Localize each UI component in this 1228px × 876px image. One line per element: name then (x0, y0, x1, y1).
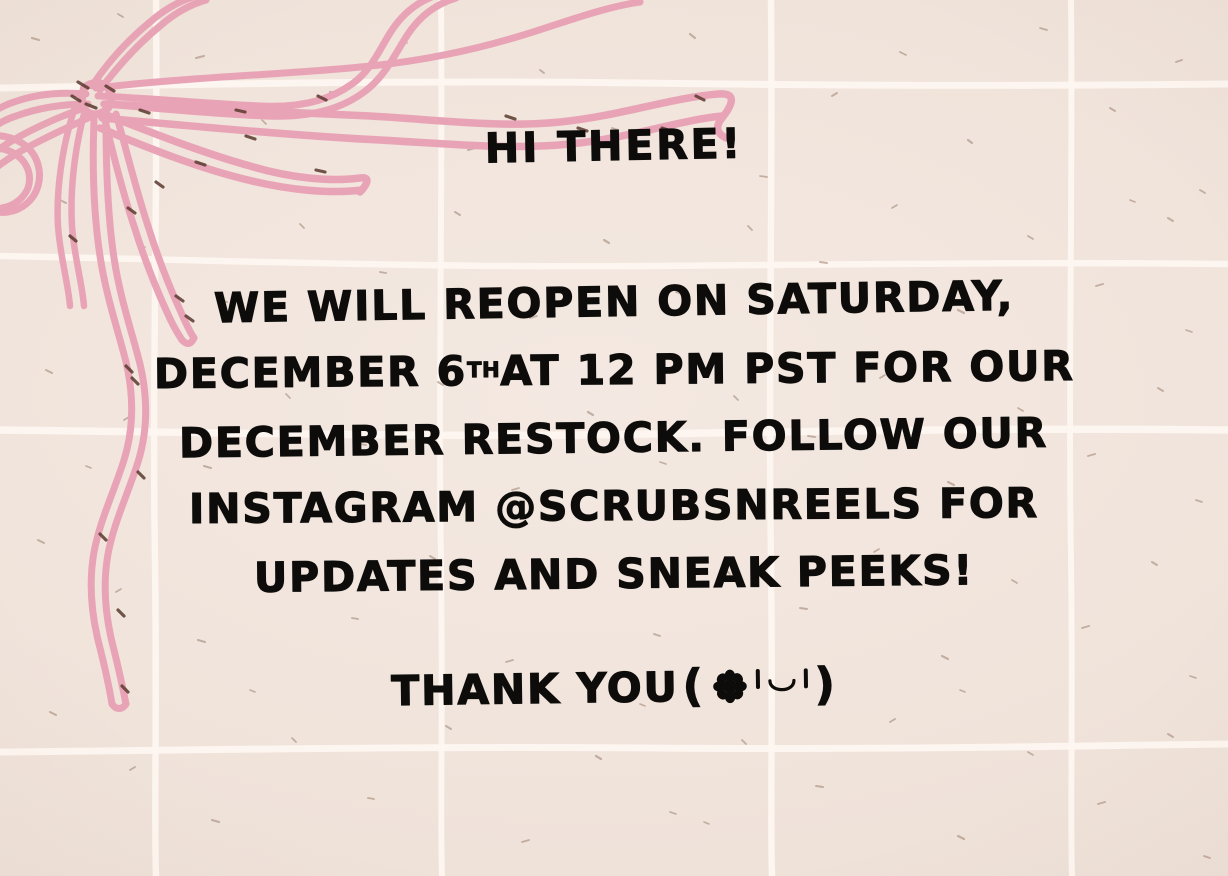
body-line-4: INSTAGRAM @SCRUBSNREELS FOR (189, 469, 1039, 543)
body-line-2-time: AT 12 PM PST FOR OUR (500, 345, 1075, 391)
body-line-5: UPDATES AND SNEAK PEEKS! (254, 536, 975, 612)
kaomoji: ( (682, 663, 837, 709)
flower-icon (712, 669, 746, 703)
greeting-heading: HI THERE! (0, 114, 1228, 179)
body-line-3: DECEMBER RESTOCK. FOLLOW OUR (179, 399, 1049, 478)
announcement-card: HI THERE! WE WILL REOPEN ON SATURDAY, DE… (0, 0, 1228, 876)
body-line-2-date: DECEMBER 6 (154, 351, 467, 395)
body-line-2: DECEMBER 6TH AT 12 PM PST FOR OUR (153, 332, 1074, 408)
kaomoji-open-paren: ( (682, 665, 705, 709)
smile-arc-icon (767, 678, 797, 698)
body-line-1: WE WILL REOPEN ON SATURDAY, (213, 262, 1014, 343)
kaomoji-close-paren: ) (814, 663, 837, 707)
ordinal-suffix: TH (467, 360, 500, 382)
signoff-line: THANK YOU ( (0, 657, 1228, 718)
body-paragraph: WE WILL REOPEN ON SATURDAY, DECEMBER 6TH… (0, 268, 1228, 608)
kaomoji-right-eye (803, 668, 807, 688)
thank-you-text: THANK YOU (391, 667, 679, 712)
message-text: HI THERE! WE WILL REOPEN ON SATURDAY, DE… (0, 0, 1228, 876)
kaomoji-left-eye (755, 669, 759, 689)
